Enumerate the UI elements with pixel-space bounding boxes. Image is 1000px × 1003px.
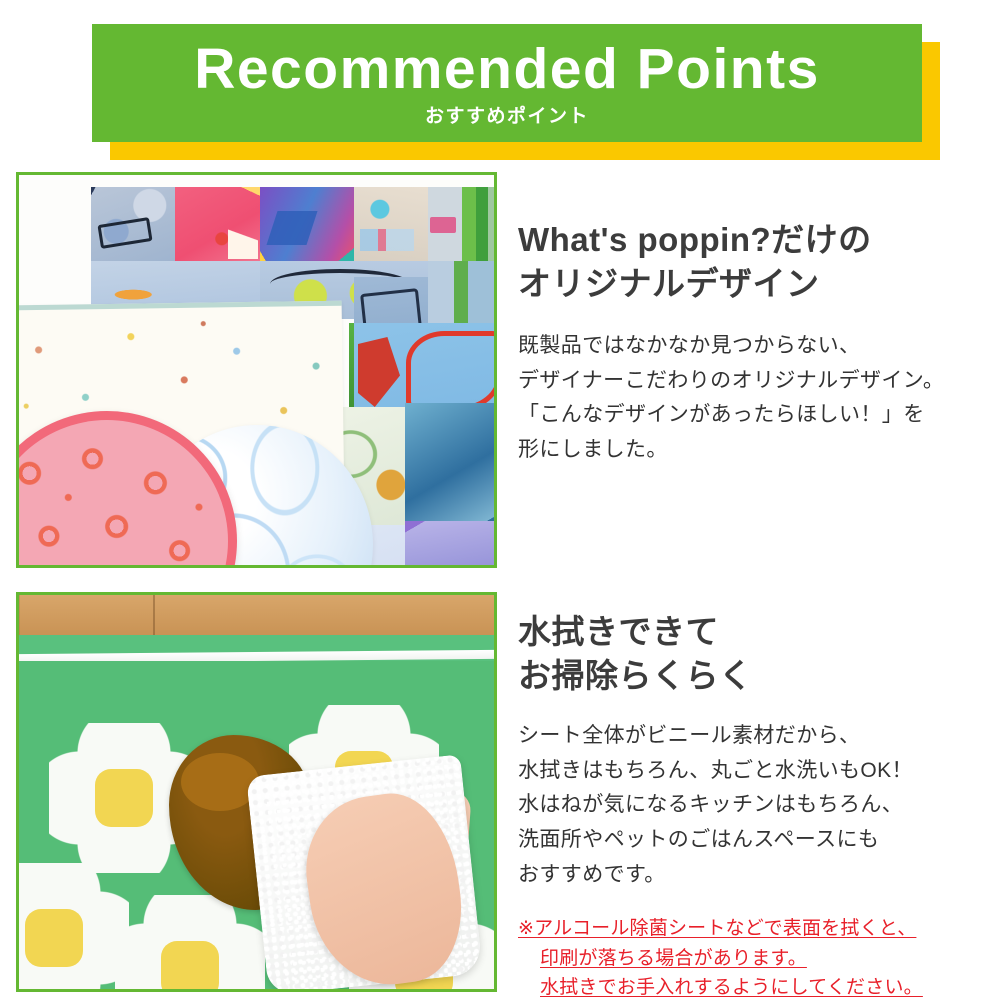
mat-flower: [115, 895, 265, 989]
wipe-clean-image: [19, 595, 494, 989]
section-design: What's poppin?だけの オリジナルデザイン 既製品ではなかなか見つか…: [0, 168, 1000, 580]
wipeable-body: シート全体がビニール素材だから、 水拭きはもちろん、丸ごと水洗いもOK！ 水はね…: [518, 697, 988, 892]
wipeable-heading: 水拭きできて お掃除らくらく: [518, 588, 988, 697]
mat-flower: [19, 863, 129, 989]
banner-green-plate: Recommended Points おすすめポイント: [92, 24, 922, 142]
graffiti-swatch-3: [260, 187, 354, 261]
graffiti-blue-red-panel: [354, 323, 497, 415]
graffiti-swatch-4: [354, 187, 428, 261]
section-wipeable: 水拭きできて お掃除らくらく シート全体がビニール素材だから、 水拭きはもちろん…: [0, 588, 1000, 1000]
graffiti-swatch-2: [175, 187, 260, 261]
design-collage-image: [19, 175, 494, 565]
design-heading: What's poppin?だけの オリジナルデザイン: [518, 168, 988, 305]
page-title: Recommended Points: [194, 41, 820, 98]
wood-floor: [19, 595, 494, 635]
photo-wipe-clean: [16, 592, 497, 992]
graffiti-swatch-8: [428, 261, 497, 323]
caution-line-3: 水拭きでお手入れするようにしてください。: [518, 973, 988, 1002]
header-banner: Recommended Points おすすめポイント: [0, 0, 1000, 168]
caution-line-1: ※アルコール除菌シートなどで表面を拭くと、: [518, 914, 988, 943]
caution-line-2: 印刷が落ちる場合があります。: [518, 944, 988, 973]
graffiti-swatch-5: [428, 187, 497, 261]
marble-swatch-c: [405, 403, 497, 529]
wipeable-text-column: 水拭きできて お掃除らくらく シート全体がビニール素材だから、 水拭きはもちろん…: [518, 588, 988, 1003]
caution-note: ※アルコール除菌シートなどで表面を拭くと、 印刷が落ちる場合があります。 水拭き…: [518, 892, 988, 1002]
page-subtitle: おすすめポイント: [425, 107, 589, 126]
photo-original-design: [16, 172, 497, 568]
design-body: 既製品ではなかなか見つからない、 デザイナーこだわりのオリジナルデザイン。 「こ…: [518, 305, 988, 468]
marble-swatch-e: [405, 521, 497, 568]
graffiti-swatch-1: [91, 187, 175, 261]
design-text-column: What's poppin?だけの オリジナルデザイン 既製品ではなかなか見つか…: [518, 168, 988, 468]
